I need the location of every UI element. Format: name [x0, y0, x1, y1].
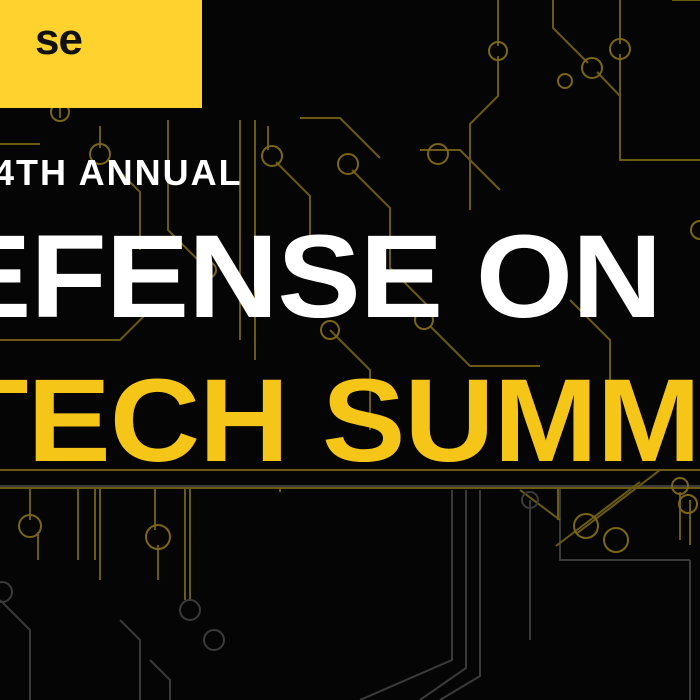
defense-one-tech-summit-banner: se 4TH ANNUAL EFENSE ON TECH SUMMI	[0, 0, 700, 700]
headline-line-1: EFENSE ON	[0, 218, 661, 336]
brand-logo-text: se	[35, 18, 82, 62]
headline-line-2: TECH SUMMI	[0, 362, 700, 480]
brand-logo-badge[interactable]: se	[0, 0, 202, 108]
eyebrow-text: 4TH ANNUAL	[0, 155, 243, 191]
